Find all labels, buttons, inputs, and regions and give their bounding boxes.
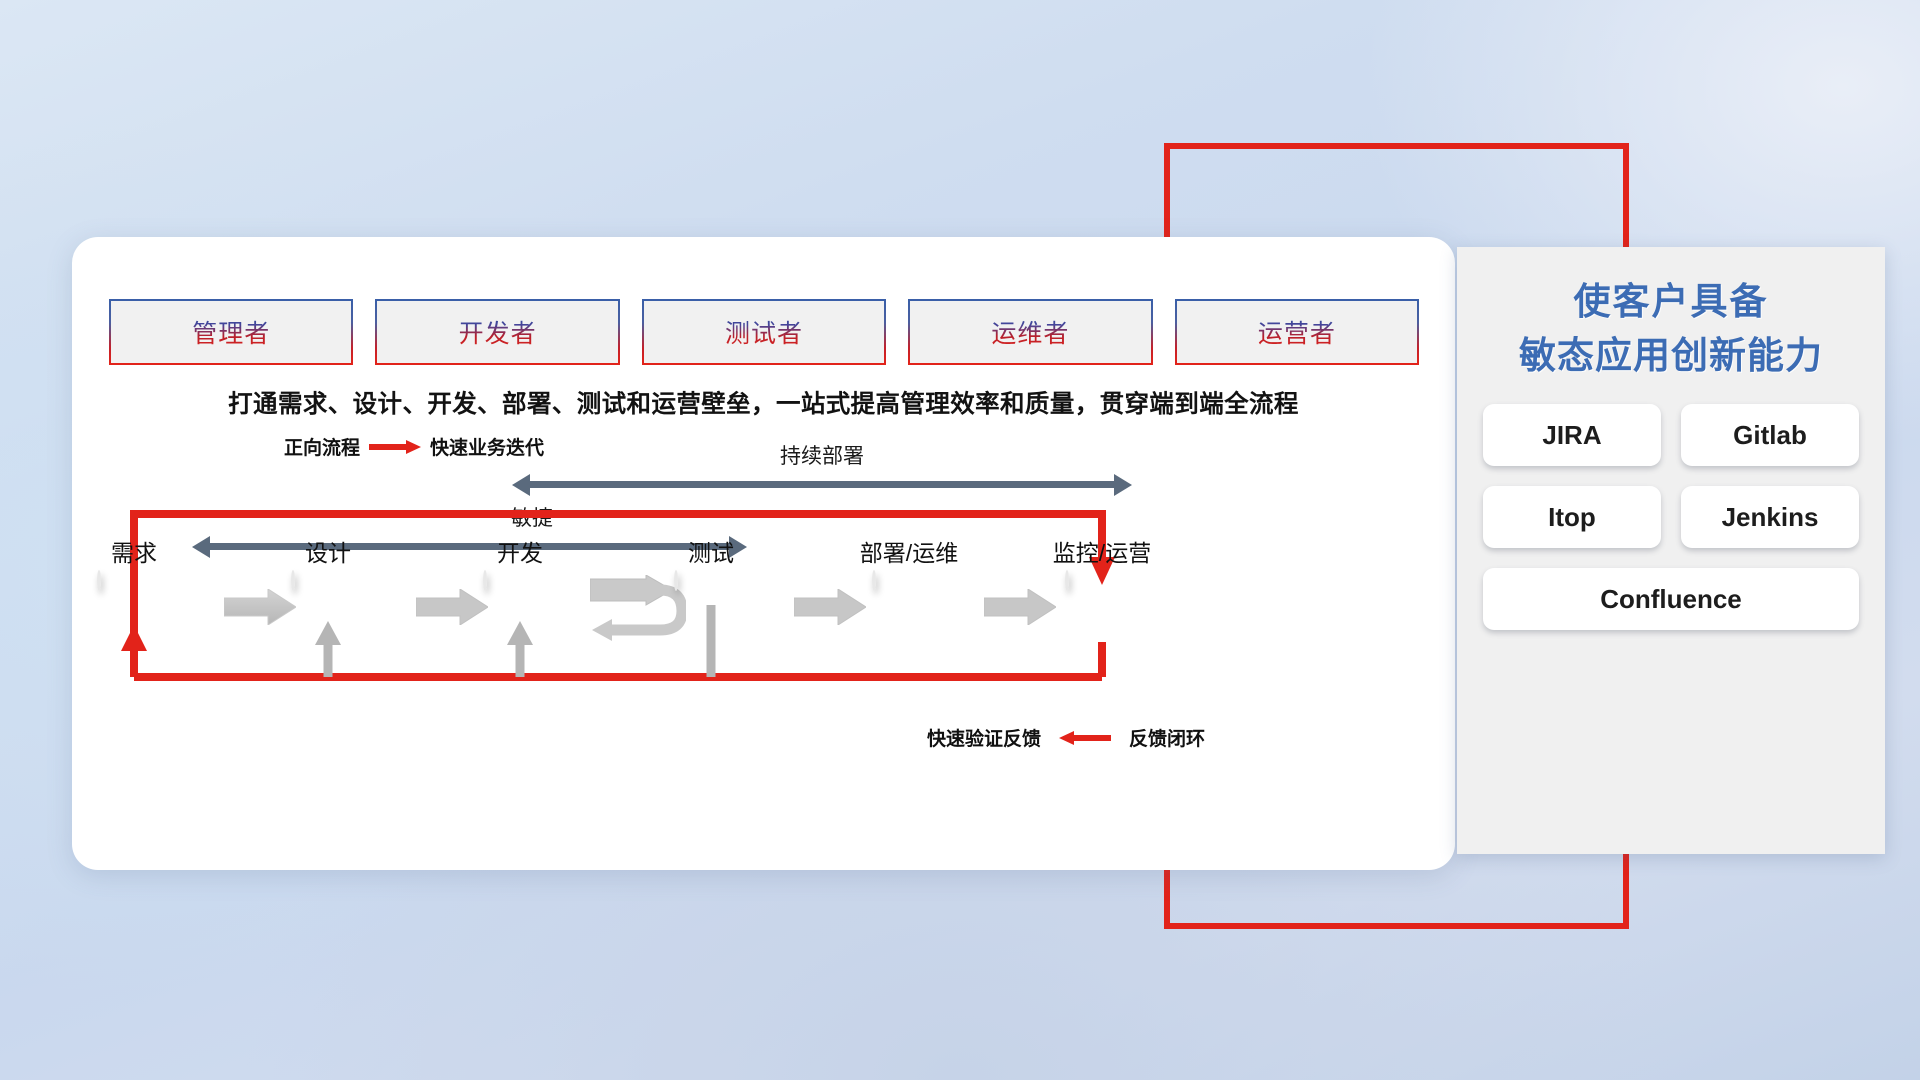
- panel-title-line2: 敏态应用创新能力: [1483, 329, 1859, 383]
- pipeline-node-label: 开发: [497, 534, 543, 568]
- tool-chip-itop[interactable]: Itop: [1483, 486, 1661, 548]
- pipeline-node-label: 需求: [111, 534, 157, 568]
- pipeline-node-requirements[interactable]: 需求: [97, 572, 171, 590]
- connector-arrow-4: [794, 589, 866, 625]
- pipeline-node-label: 部署/运维: [860, 534, 958, 568]
- connector-arrow-5: [984, 589, 1056, 625]
- pipeline-node-label: 测试: [688, 534, 734, 568]
- pipeline-node-monitor-operations[interactable]: 监控/运营: [1065, 572, 1139, 590]
- main-card: 管理者 开发者 测试者 运维者 运营者 打通需求、设计、开发、部署、测试和运营壁…: [72, 237, 1455, 870]
- pipeline-node-label: 监控/运营: [1053, 534, 1151, 568]
- node-dot-icon: [97, 570, 101, 591]
- pipeline-node-testing[interactable]: 测试: [674, 572, 748, 590]
- pipeline-node-deploy-ops[interactable]: 部署/运维: [872, 572, 946, 590]
- tool-chip-grid: JIRA Gitlab Itop Jenkins Confluence: [1483, 404, 1859, 630]
- node-dot-icon: [1065, 570, 1069, 591]
- pipeline-node-design[interactable]: 设计: [291, 572, 365, 590]
- legend-feedback-left-label: 快速验证反馈: [927, 724, 1041, 751]
- node-dot-icon: [291, 570, 295, 591]
- connector-loop-arrow-icon: [590, 575, 686, 641]
- tool-chip-jenkins[interactable]: Jenkins: [1681, 486, 1859, 548]
- tool-chip-gitlab[interactable]: Gitlab: [1681, 404, 1859, 466]
- connector-arrow-2: [416, 589, 488, 625]
- tool-chip-confluence[interactable]: Confluence: [1483, 568, 1859, 630]
- legend-feedback-right-label: 反馈闭环: [1129, 724, 1205, 751]
- right-panel: 使客户具备 敏态应用创新能力 JIRA Gitlab Itop Jenkins …: [1457, 247, 1885, 854]
- tool-chip-jira[interactable]: JIRA: [1483, 404, 1661, 466]
- node-dot-icon: [872, 570, 876, 591]
- panel-title: 使客户具备 敏态应用创新能力: [1483, 275, 1859, 382]
- panel-title-line1: 使客户具备: [1483, 275, 1859, 329]
- arrow-left-red-icon: [1059, 731, 1111, 744]
- node-dot-icon: [483, 570, 487, 591]
- connector-arrow-1: [224, 589, 296, 625]
- pipeline-node-label: 设计: [305, 534, 351, 568]
- legend-feedback-loop: 快速验证反馈 反馈闭环: [927, 724, 1205, 751]
- pipeline-node-development[interactable]: 开发: [483, 572, 557, 590]
- pipeline-nodes: 需求 设计 开发: [72, 237, 1455, 870]
- node-dot-icon: [674, 570, 678, 591]
